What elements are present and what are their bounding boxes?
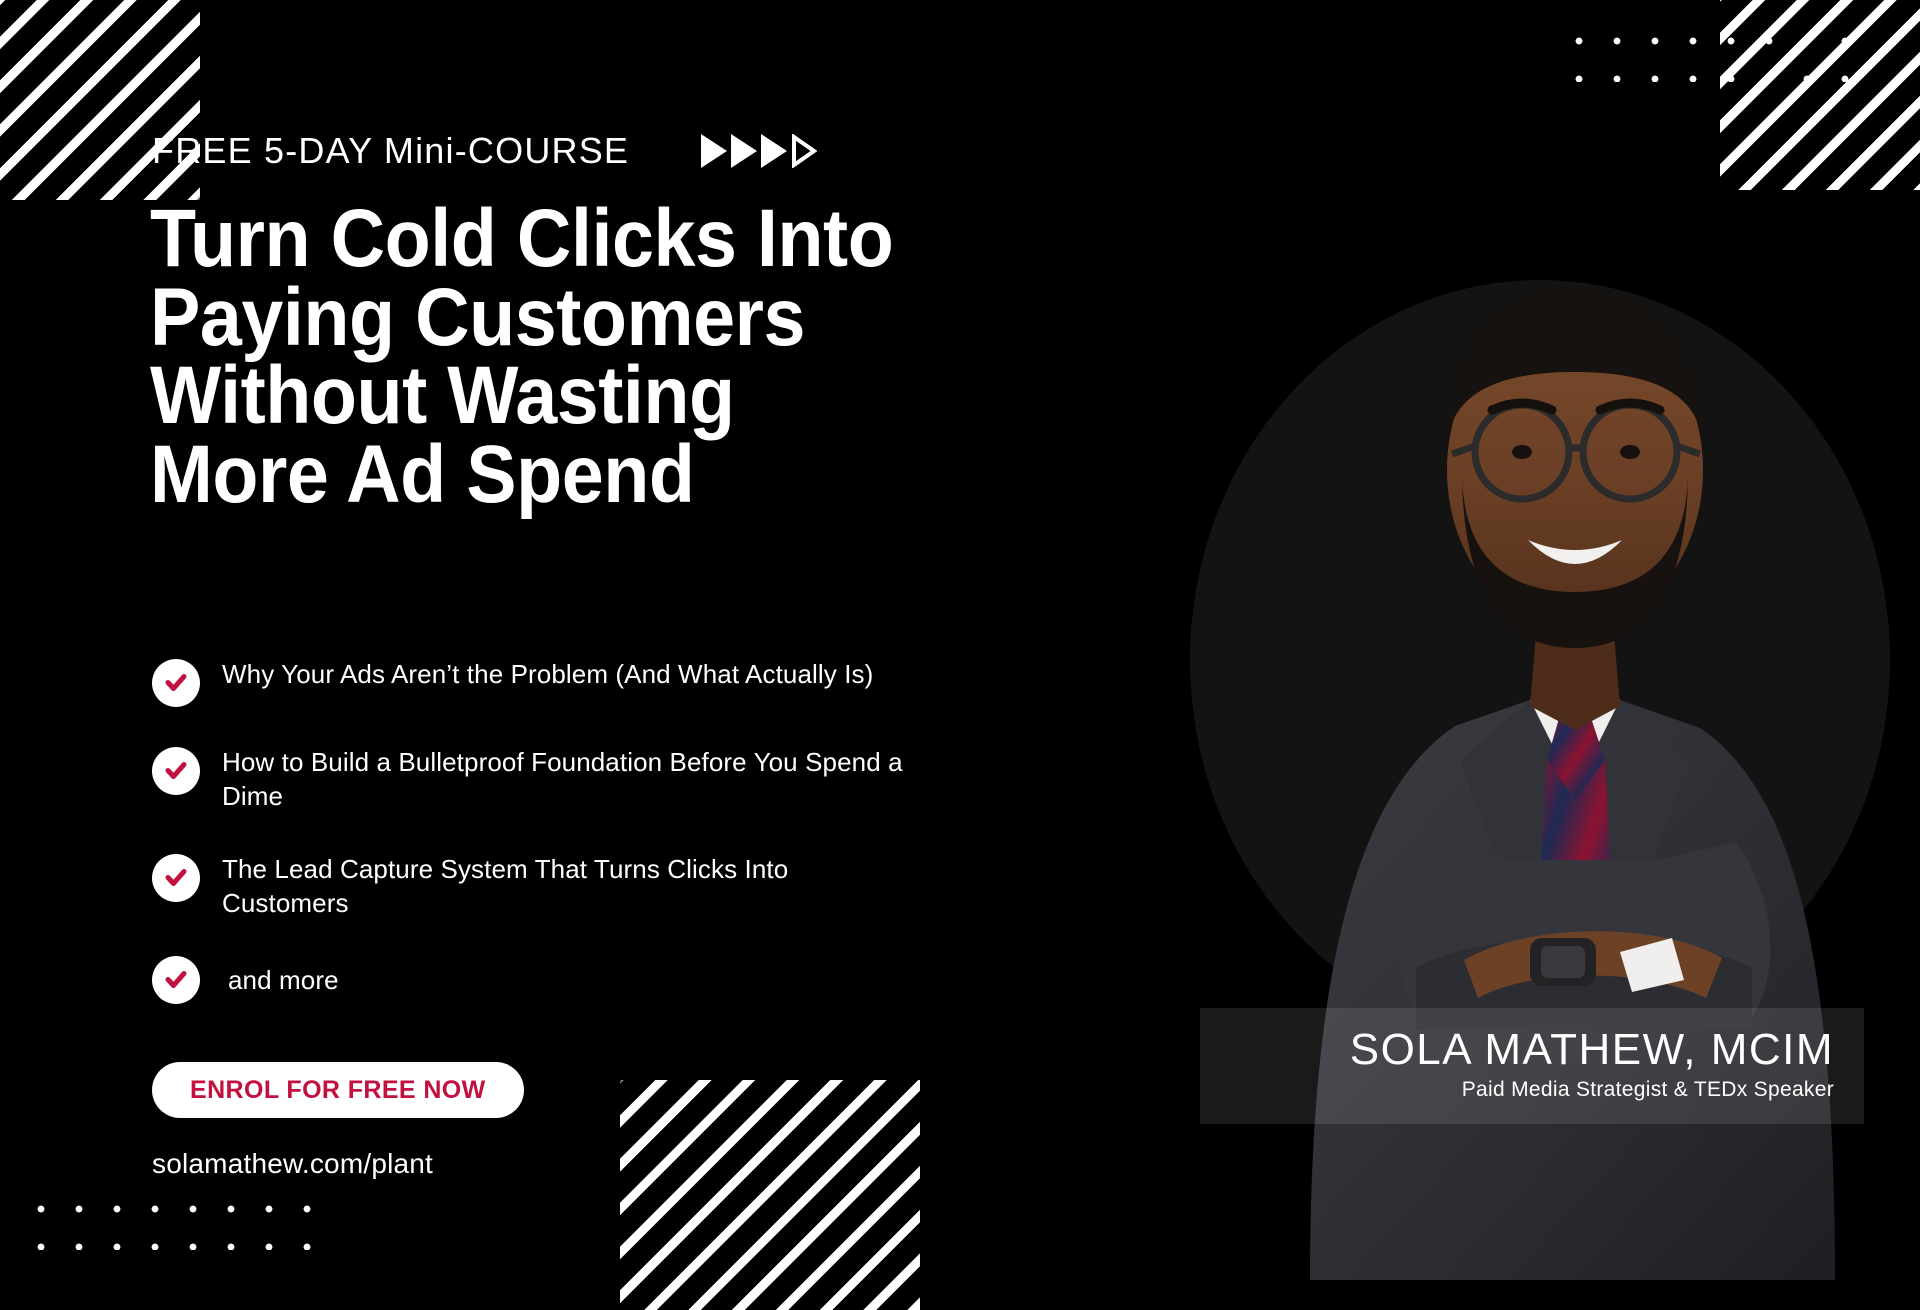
check-icon — [152, 659, 200, 707]
speaker-name: SOLA MATHEW, MCIM — [1350, 1026, 1834, 1074]
list-item-label: How to Build a Bulletproof Foundation Be… — [222, 743, 912, 814]
list-item-label: The Lead Capture System That Turns Click… — [222, 850, 912, 921]
benefit-list: Why Your Ads Aren’t the Problem (And Wha… — [152, 655, 912, 1004]
speaker-nameplate: SOLA MATHEW, MCIM Paid Media Strategist … — [1200, 1008, 1864, 1124]
eyebrow-label: FREE 5-DAY Mini-COURSE — [152, 130, 629, 172]
list-item: Why Your Ads Aren’t the Problem (And Wha… — [152, 655, 912, 707]
play-arrow-icon — [731, 134, 757, 168]
check-icon — [152, 747, 200, 795]
list-item-label: and more — [222, 963, 339, 997]
headline-line-1: Turn Cold Clicks Into — [150, 200, 960, 279]
content-column: FREE 5-DAY Mini-COURSE Turn Cold Clicks … — [152, 0, 1052, 1280]
headline-line-2: Paying Customers — [150, 279, 960, 358]
speaker-role: Paid Media Strategist & TEDx Speaker — [1350, 1078, 1834, 1102]
enrol-button[interactable]: ENROL FOR FREE NOW — [152, 1062, 524, 1118]
list-item-label: Why Your Ads Aren’t the Problem (And Wha… — [222, 655, 873, 691]
page-title: Turn Cold Clicks Into Paying Customers W… — [150, 200, 960, 515]
list-item: How to Build a Bulletproof Foundation Be… — [152, 743, 912, 814]
play-arrow-icon — [761, 134, 787, 168]
eyebrow-row: FREE 5-DAY Mini-COURSE — [152, 130, 817, 172]
play-arrow-icon — [701, 134, 727, 168]
landing-page-url[interactable]: solamathew.com/plant — [152, 1148, 433, 1180]
headline-line-4: More Ad Spend — [150, 436, 960, 515]
check-icon — [152, 854, 200, 902]
list-item: and more — [152, 956, 912, 1004]
list-item: The Lead Capture System That Turns Click… — [152, 850, 912, 921]
play-arrow-outline-icon — [791, 134, 817, 168]
check-icon — [152, 956, 200, 1004]
headline-line-3: Without Wasting — [150, 357, 960, 436]
portrait-panel: SOLA MATHEW, MCIM Paid Media Strategist … — [1060, 0, 1920, 1280]
arrow-group — [701, 134, 817, 168]
